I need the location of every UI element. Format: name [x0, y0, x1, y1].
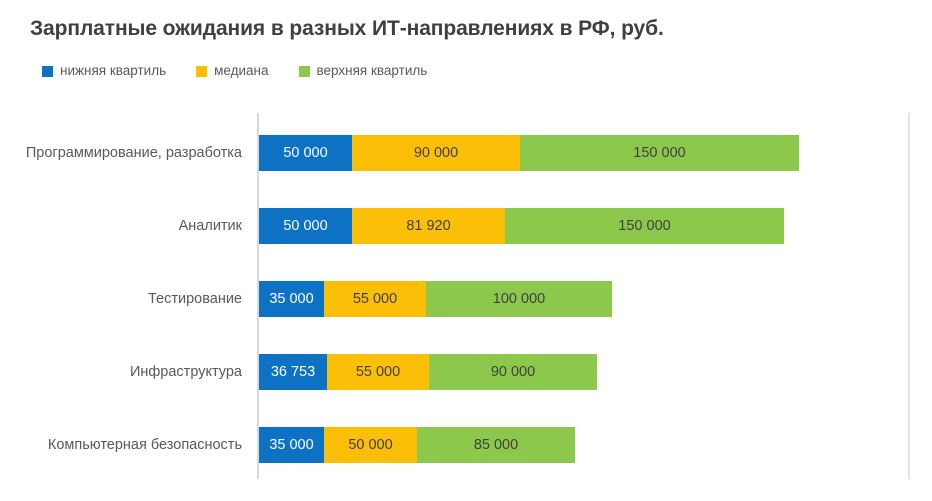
bar-segment-median-3[interactable]: 55 000	[327, 354, 429, 390]
stacked-bar-4: 35 000 50 000 85 000	[259, 427, 575, 463]
table-row: Компьютерная безопасность 35 000 50 000 …	[0, 427, 932, 463]
bar-segment-upper-4[interactable]: 85 000	[417, 427, 575, 463]
category-label-1: Аналитик	[179, 208, 242, 244]
bar-segment-upper-1[interactable]: 150 000	[505, 208, 784, 244]
bar-segment-lower-3[interactable]: 36 753	[259, 354, 327, 390]
stacked-bar-1: 50 000 81 920 150 000	[259, 208, 784, 244]
bar-segment-median-0[interactable]: 90 000	[352, 135, 520, 171]
category-label-3: Инфраструктура	[130, 354, 242, 390]
stacked-bar-3: 36 753 55 000 90 000	[259, 354, 597, 390]
table-row: Инфраструктура 36 753 55 000 90 000	[0, 354, 932, 390]
stacked-bar-2: 35 000 55 000 100 000	[259, 281, 612, 317]
bar-segment-median-1[interactable]: 81 920	[352, 208, 505, 244]
bar-segment-median-4[interactable]: 50 000	[324, 427, 417, 463]
bar-segment-lower-2[interactable]: 35 000	[259, 281, 324, 317]
bar-segment-upper-2[interactable]: 100 000	[426, 281, 612, 317]
table-row: Тестирование 35 000 55 000 100 000	[0, 281, 932, 317]
category-label-0: Программирование, разработка	[26, 135, 242, 171]
stacked-bar-0: 50 000 90 000 150 000	[259, 135, 799, 171]
bar-segment-upper-3[interactable]: 90 000	[429, 354, 597, 390]
plot-area: Программирование, разработка 50 000 90 0…	[0, 0, 932, 501]
bar-segment-lower-1[interactable]: 50 000	[259, 208, 352, 244]
chart-container: Зарплатные ожидания в разных ИТ-направле…	[0, 0, 932, 501]
bar-segment-upper-0[interactable]: 150 000	[520, 135, 799, 171]
table-row: Программирование, разработка 50 000 90 0…	[0, 135, 932, 171]
bar-segment-median-2[interactable]: 55 000	[324, 281, 426, 317]
category-label-2: Тестирование	[148, 281, 242, 317]
category-label-4: Компьютерная безопасность	[48, 427, 242, 463]
table-row: Аналитик 50 000 81 920 150 000	[0, 208, 932, 244]
bar-segment-lower-4[interactable]: 35 000	[259, 427, 324, 463]
bar-segment-lower-0[interactable]: 50 000	[259, 135, 352, 171]
